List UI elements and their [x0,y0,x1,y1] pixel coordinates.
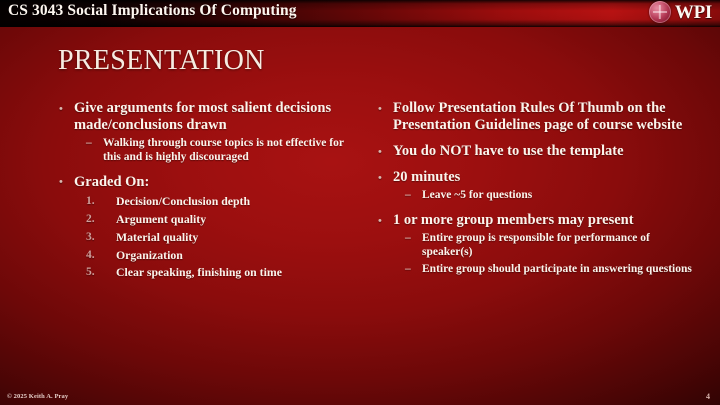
list-number: 1. [86,194,106,208]
sub-bullet-text: Walking through course topics is not eff… [103,137,344,163]
sub-bullet-item: –Leave ~5 for questions [403,189,698,203]
list-number: 2. [86,212,106,226]
numbered-list-item: 4.Organization [86,248,350,262]
bullet-item: •You do NOT have to use the template [376,143,698,160]
left-column: •Give arguments for most salient decisio… [0,100,360,380]
list-item-text: Argument quality [116,212,206,226]
list-item-text: Clear speaking, finishing on time [116,265,282,279]
numbered-list-item: 2.Argument quality [86,212,350,226]
list-number: 4. [86,248,106,262]
wpi-logo: WPI [649,1,712,23]
list-item-text: Material quality [116,230,198,244]
sub-bullet-text: Leave ~5 for questions [422,189,532,201]
numbered-list-item: 3.Material quality [86,230,350,244]
copyright-notice: © 2025 Keith A. Pray [7,393,68,400]
sub-bullet-item: –Walking through course topics is not ef… [84,137,350,165]
list-item-text: Decision/Conclusion depth [116,194,250,208]
bullet-item: •1 or more group members may present–Ent… [376,212,698,277]
bullet-text: You do NOT have to use the template [393,143,624,159]
sub-bullet-text: Entire group should participate in answe… [422,263,692,275]
wpi-seal-icon [649,1,671,23]
slide-page-number: 4 [706,392,710,401]
dash-marker-icon: – [86,137,92,151]
slide-body: •Give arguments for most salient decisio… [0,100,720,380]
presentation-slide: CS 3043 Social Implications Of Computing… [0,0,720,405]
bullet-text: Graded On: [74,174,149,190]
course-title: CS 3043 Social Implications Of Computing [8,2,297,20]
list-number: 3. [86,230,106,244]
bullet-text: 1 or more group members may present [393,212,634,228]
dash-marker-icon: – [405,232,411,246]
right-bullet-list: •Follow Presentation Rules Of Thumb on t… [376,100,698,277]
bullet-marker-icon: • [59,101,63,118]
bullet-marker-icon: • [378,170,382,187]
list-number: 5. [86,265,106,279]
bullet-item: •Follow Presentation Rules Of Thumb on t… [376,100,698,134]
dash-marker-icon: – [405,263,411,277]
bullet-marker-icon: • [378,101,382,118]
dash-sublist: –Entire group is responsible for perform… [403,232,698,276]
numbered-list-item: 5.Clear speaking, finishing on time [86,265,350,279]
bullet-item: •20 minutes–Leave ~5 for questions [376,169,698,203]
wpi-wordmark: WPI [675,3,712,22]
sub-bullet-item: –Entire group is responsible for perform… [403,232,698,260]
bullet-text: Give arguments for most salient decision… [74,100,331,133]
bullet-marker-icon: • [378,144,382,161]
numbered-list-item: 1.Decision/Conclusion depth [86,194,350,208]
bullet-item: •Graded On:1.Decision/Conclusion depth2.… [57,174,350,280]
dash-sublist: –Leave ~5 for questions [403,189,698,203]
dash-marker-icon: – [405,189,411,203]
numbered-sublist: 1.Decision/Conclusion depth2.Argument qu… [86,194,350,280]
dash-sublist: –Walking through course topics is not ef… [84,137,350,165]
bullet-marker-icon: • [59,174,63,191]
sub-bullet-text: Entire group is responsible for performa… [422,232,650,258]
list-item-text: Organization [116,248,183,262]
bullet-text: 20 minutes [393,169,460,185]
bullet-item: •Give arguments for most salient decisio… [57,100,350,165]
right-column: •Follow Presentation Rules Of Thumb on t… [360,100,720,380]
sub-bullet-item: –Entire group should participate in answ… [403,263,698,277]
bullet-text: Follow Presentation Rules Of Thumb on th… [393,100,682,133]
bullet-marker-icon: • [378,213,382,230]
page-title: PRESENTATION [58,45,265,77]
left-bullet-list: •Give arguments for most salient decisio… [57,100,350,280]
